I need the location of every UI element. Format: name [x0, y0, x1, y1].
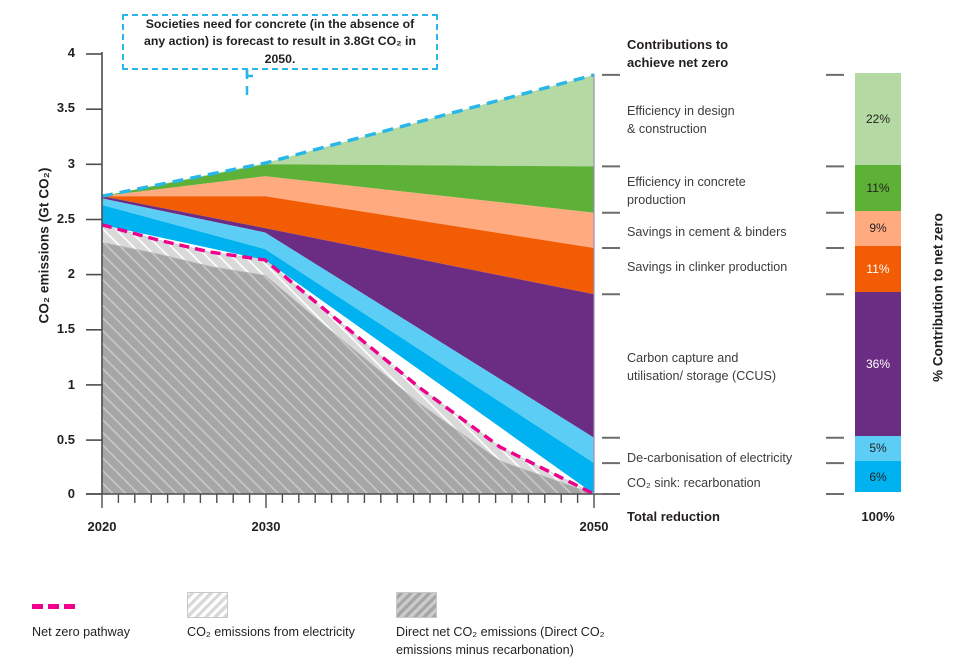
y-axis-title: CO₂ emissions (Gt CO₂)	[37, 106, 52, 386]
pct-segment-savings-clinker-production: 11%	[855, 246, 901, 292]
area-chart-plot	[0, 0, 960, 656]
pct-segment-efficiency-design-construction: 22%	[855, 73, 901, 165]
hatch-light-swatch-icon	[187, 592, 228, 618]
legend-label-direct-net-emissions: Direct net CO₂ emissions (Direct CO₂ emi…	[396, 624, 626, 660]
hatch-dark-swatch-icon	[396, 592, 437, 618]
y-tick-4: 4	[29, 46, 75, 59]
x-tick-2050: 2050	[559, 519, 629, 534]
pct-segment-ccus: 36%	[855, 292, 901, 435]
legend-label-net-zero-pathway: Net zero pathway	[32, 624, 202, 642]
contribution-label-co2-sink-recarbonation: CO₂ sink: recarbonation	[627, 475, 761, 493]
dashed-line-swatch-icon	[32, 604, 76, 609]
pct-segment-co2-sink-recarbonation: 6%	[855, 461, 901, 492]
pct-segment-efficiency-concrete-production: 11%	[855, 165, 901, 211]
legend-label-emissions-from-electricity: CO₂ emissions from electricity	[187, 624, 427, 642]
y-axis-ticks	[86, 54, 102, 494]
pct-value-11b: 11%	[866, 262, 889, 276]
y-tick-0-5: 0.5	[29, 433, 75, 446]
chart-root: 4 3.5 3 2.5 2 1.5 1 0.5 0 CO₂ emissions …	[0, 0, 960, 656]
x-tick-2020: 2020	[67, 519, 137, 534]
right-axis-title: % Contribution to net zero	[931, 158, 946, 438]
total-reduction-percent: 100%	[855, 509, 901, 524]
contribution-label-efficiency-design-construction: Efficiency in design & construction	[627, 103, 735, 138]
chart-legend: Net zero pathway CO₂ emissions from elec…	[0, 588, 960, 656]
contribution-label-efficiency-concrete-production: Efficiency in concrete production	[627, 174, 746, 209]
y-tick-0: 0	[29, 487, 75, 500]
contribution-label-savings-cement-binders: Savings in cement & binders	[627, 224, 787, 242]
callout-box: Societies need for concrete (in the abse…	[122, 14, 438, 70]
pct-segment-decarbonisation-electricity: 5%	[855, 436, 901, 461]
x-tick-2030: 2030	[231, 519, 301, 534]
pct-segment-savings-cement-binders: 9%	[855, 211, 901, 246]
contribution-label-savings-clinker-production: Savings in clinker production	[627, 259, 787, 277]
x-axis-ticks	[102, 494, 594, 508]
callout-text: Societies need for concrete (in the abse…	[134, 16, 426, 68]
pct-value-6: 6%	[869, 470, 886, 484]
pct-value-36: 36%	[866, 357, 890, 371]
contribution-leader-ticks	[602, 75, 620, 494]
percentage-contribution-bar: 22% 11% 9% 11% 36% 5% 6%	[855, 73, 901, 492]
percentage-bar-leader-ticks	[826, 75, 844, 494]
pct-value-9: 9%	[869, 221, 886, 235]
contributions-header: Contributions to achieve net zero	[627, 36, 728, 73]
pct-value-11a: 11%	[866, 181, 889, 195]
contribution-label-decarbonisation-electricity: De-carbonisation of electricity	[627, 450, 792, 468]
pct-value-5: 5%	[869, 441, 886, 455]
total-reduction-label: Total reduction	[627, 509, 720, 524]
contribution-label-ccus: Carbon capture and utilisation/ storage …	[627, 350, 776, 385]
pct-value-22: 22%	[866, 112, 890, 126]
